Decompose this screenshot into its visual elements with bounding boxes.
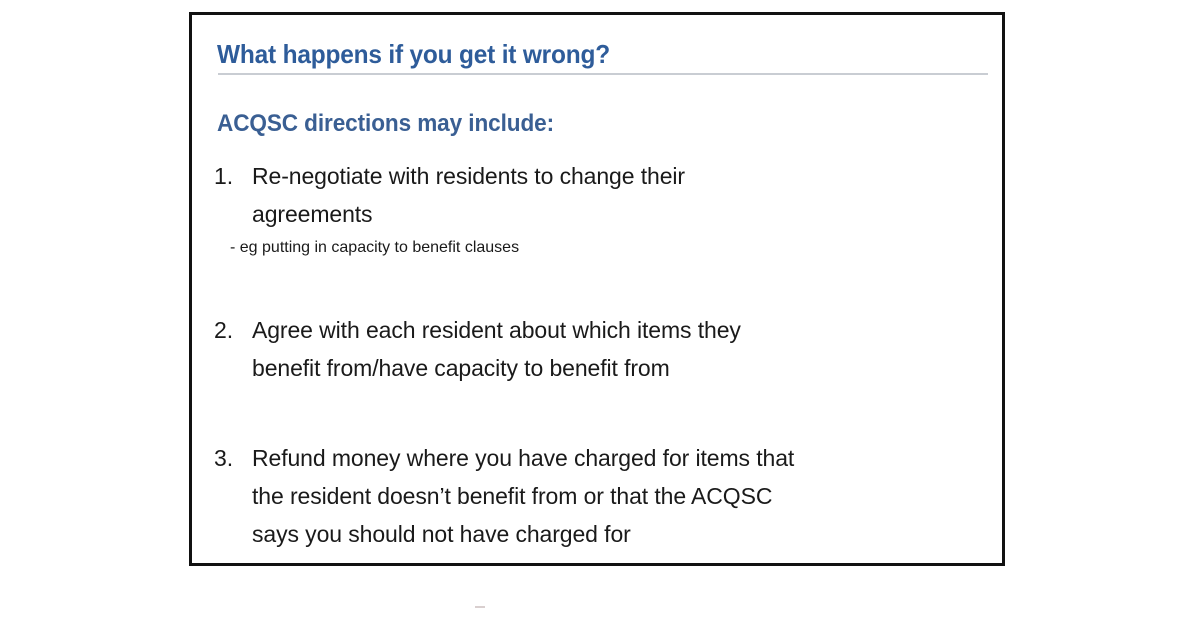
list-item-line: benefit from/have capacity to benefit fr…	[252, 349, 994, 387]
page-title: What happens if you get it wrong?	[217, 39, 610, 70]
list-item-number: 1.	[214, 157, 252, 195]
list-item-row: 1. Re-negotiate with residents to change…	[214, 157, 994, 233]
list-item-text: Agree with each resident about which ite…	[252, 311, 994, 387]
list-item-text: Refund money where you have charged for …	[252, 439, 994, 553]
list-item-row: 2. Agree with each resident about which …	[214, 311, 994, 387]
list-item-line: Agree with each resident about which ite…	[252, 311, 994, 349]
list-item: 1. Re-negotiate with residents to change…	[214, 157, 994, 259]
directions-list: 1. Re-negotiate with residents to change…	[214, 157, 994, 553]
slide-frame: What happens if you get it wrong? ACQSC …	[189, 12, 1005, 566]
title-divider	[218, 73, 988, 75]
slide-subtitle: ACQSC directions may include:	[217, 110, 554, 138]
list-gap	[214, 259, 994, 311]
slide-content: What happens if you get it wrong? ACQSC …	[192, 15, 1002, 563]
list-item-subnote: - eg putting in capacity to benefit clau…	[230, 237, 994, 259]
list-item: 2. Agree with each resident about which …	[214, 311, 994, 387]
list-gap	[214, 387, 994, 439]
list-item-line: the resident doesn’t benefit from or tha…	[252, 477, 994, 515]
list-item-number: 3.	[214, 439, 252, 477]
list-item-line: Refund money where you have charged for …	[252, 439, 994, 477]
list-item-row: 3. Refund money where you have charged f…	[214, 439, 994, 553]
list-item-line: says you should not have charged for	[252, 515, 994, 553]
scan-artifact	[475, 606, 485, 608]
list-item: 3. Refund money where you have charged f…	[214, 439, 994, 553]
list-item-line: Re-negotiate with residents to change th…	[252, 157, 994, 195]
list-item-number: 2.	[214, 311, 252, 349]
list-item-line: agreements	[252, 195, 994, 233]
list-item-text: Re-negotiate with residents to change th…	[252, 157, 994, 233]
